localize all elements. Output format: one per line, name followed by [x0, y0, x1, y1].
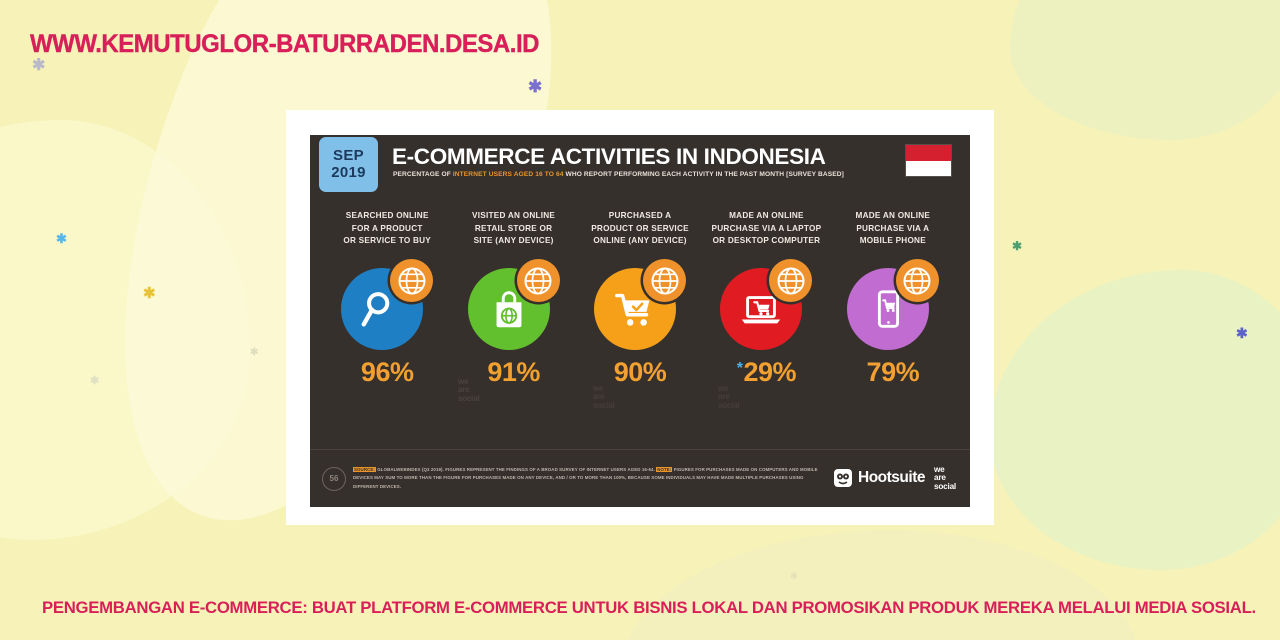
infographic-header: SEP 2019 E-COMMERCE ACTIVITIES IN INDONE…	[310, 135, 970, 198]
source-body: GLOBALWEBINDEX (Q3 2019). FIGURES REPRES…	[377, 467, 655, 472]
activity-label: VISITED AN ONLINERETAIL STORE ORSITE (AN…	[450, 210, 576, 250]
decorative-star: ✱	[528, 78, 542, 95]
globe-badge	[769, 259, 812, 302]
activity-label-line: PURCHASED A	[609, 210, 672, 223]
activity-column: MADE AN ONLINEPURCHASE VIA AMOBILE PHONE…	[830, 210, 956, 388]
activity-label-line: SITE (ANY DEVICE)	[474, 235, 554, 248]
watermark-mid: wearesocial	[593, 385, 614, 410]
subtitle-pre: PERCENTAGE OF	[393, 171, 453, 178]
owl-icon	[833, 468, 853, 488]
page-title: E-COMMERCE ACTIVITIES IN INDONESIA	[392, 144, 826, 170]
date-badge: SEP 2019	[319, 137, 378, 192]
globe-icon	[902, 266, 932, 296]
activity-percentage-value: 29%	[744, 357, 797, 387]
activity-label: SEARCHED ONLINEFOR A PRODUCTOR SERVICE T…	[324, 210, 450, 250]
activity-percentage: 91%	[450, 357, 576, 388]
slide-number-badge: 56	[322, 467, 346, 491]
date-badge-month: SEP	[333, 148, 364, 165]
activity-column: VISITED AN ONLINERETAIL STORE ORSITE (AN…	[450, 210, 576, 388]
indonesia-flag-icon	[905, 144, 952, 177]
activity-label-line: PURCHASE VIA A	[856, 223, 929, 236]
activity-label: MADE AN ONLINEPURCHASE VIA AMOBILE PHONE	[830, 210, 956, 250]
we-are-social-logo: we are social	[934, 466, 956, 491]
activity-icon-group	[468, 259, 560, 351]
activity-column: MADE AN ONLINEPURCHASE VIA A LAPTOPOR DE…	[703, 210, 829, 388]
activity-label: PURCHASED APRODUCT OR SERVICEONLINE (ANY…	[577, 210, 703, 250]
activity-column: PURCHASED APRODUCT OR SERVICEONLINE (ANY…	[577, 210, 703, 388]
footer-logos: Hootsuite we are social	[833, 466, 956, 491]
hootsuite-wordmark: Hootsuite	[858, 469, 925, 487]
activity-label-line: PURCHASE VIA A LAPTOP	[712, 223, 822, 236]
activity-icon-group	[594, 259, 686, 351]
activity-label: MADE AN ONLINEPURCHASE VIA A LAPTOPOR DE…	[703, 210, 829, 250]
globe-badge	[390, 259, 433, 302]
decorative-star: ✱	[790, 572, 798, 581]
hootsuite-logo: Hootsuite	[833, 468, 925, 488]
activity-percentage: *29%	[703, 357, 829, 388]
activity-label-line: OR DESKTOP COMPUTER	[713, 235, 821, 248]
globe-icon	[776, 266, 806, 296]
date-badge-year: 2019	[331, 165, 366, 182]
activity-label-line: MADE AN ONLINE	[856, 210, 931, 223]
background-blob-green-right	[990, 270, 1280, 570]
activity-label-line: SEARCHED ONLINE	[346, 210, 429, 223]
activity-label-line: PRODUCT OR SERVICE	[591, 223, 689, 236]
note-label: NOTE:	[656, 467, 672, 472]
activity-column: SEARCHED ONLINEFOR A PRODUCTOR SERVICE T…	[324, 210, 450, 388]
decorative-star: ✱	[1236, 326, 1248, 340]
infographic-footer: 56 SOURCE: GLOBALWEBINDEX (Q3 2019). FIG…	[310, 449, 970, 507]
subtitle-highlight: INTERNET USERS AGED 16 TO 64	[453, 171, 564, 178]
background-blob-bottom	[620, 530, 1140, 640]
activity-label-line: VISITED AN ONLINE	[472, 210, 555, 223]
activity-icon-group	[720, 259, 812, 351]
activity-label-line: RETAIL STORE OR	[475, 223, 552, 236]
source-label: SOURCE:	[353, 467, 376, 472]
asterisk-marker: *	[737, 360, 743, 377]
activity-percentage: 90%	[577, 357, 703, 388]
infographic-card: SEP 2019 E-COMMERCE ACTIVITIES IN INDONE…	[310, 135, 970, 507]
site-url-banner: WWW.KEMUTUGLOR-BATURRADEN.DESA.ID	[30, 30, 539, 59]
flag-white-band	[906, 161, 951, 177]
activity-percentage: 96%	[324, 357, 450, 388]
decorative-star: ✱	[32, 58, 45, 74]
globe-icon	[397, 266, 427, 296]
activity-percentage: 79%	[830, 357, 956, 388]
bottom-caption: PENGEMBANGAN E-COMMERCE: BUAT PLATFORM E…	[42, 598, 1232, 618]
flag-red-band	[906, 145, 951, 161]
infographic-white-frame: SEP 2019 E-COMMERCE ACTIVITIES IN INDONE…	[286, 110, 994, 525]
watermark-right: wearesocial	[718, 385, 739, 410]
decorative-star: ✱	[90, 376, 99, 387]
footer-source-note: SOURCE: GLOBALWEBINDEX (Q3 2019). FIGURE…	[353, 466, 821, 492]
activity-label-line: MOBILE PHONE	[860, 235, 926, 248]
activity-percentage-value: 91%	[487, 357, 540, 387]
activity-percentage-value: 90%	[614, 357, 667, 387]
decorative-star: ✱	[56, 232, 67, 245]
activity-label-line: OR SERVICE TO BUY	[343, 235, 431, 248]
activity-label-line: MADE AN ONLINE	[729, 210, 804, 223]
globe-icon	[650, 266, 680, 296]
decorative-star: ✱	[1012, 240, 1022, 252]
background-blob-green-top	[1010, 0, 1280, 140]
activity-label-line: ONLINE (ANY DEVICE)	[593, 235, 686, 248]
was-line-3: social	[934, 483, 956, 491]
globe-badge	[517, 259, 560, 302]
globe-badge	[643, 259, 686, 302]
activity-percentage-value: 96%	[361, 357, 414, 387]
globe-icon	[523, 266, 553, 296]
subtitle-post: WHO REPORT PERFORMING EACH ACTIVITY IN T…	[564, 171, 844, 178]
decorative-star: ✱	[143, 286, 156, 301]
activity-icon-group	[847, 259, 939, 351]
activities-columns: SEARCHED ONLINEFOR A PRODUCTOR SERVICE T…	[310, 210, 970, 388]
activity-icon-group	[341, 259, 433, 351]
activity-label-line: FOR A PRODUCT	[352, 223, 423, 236]
decorative-star: ✱	[250, 348, 258, 358]
activity-percentage-value: 79%	[867, 357, 920, 387]
page-subtitle: PERCENTAGE OF INTERNET USERS AGED 16 TO …	[393, 171, 844, 178]
globe-badge	[896, 259, 939, 302]
